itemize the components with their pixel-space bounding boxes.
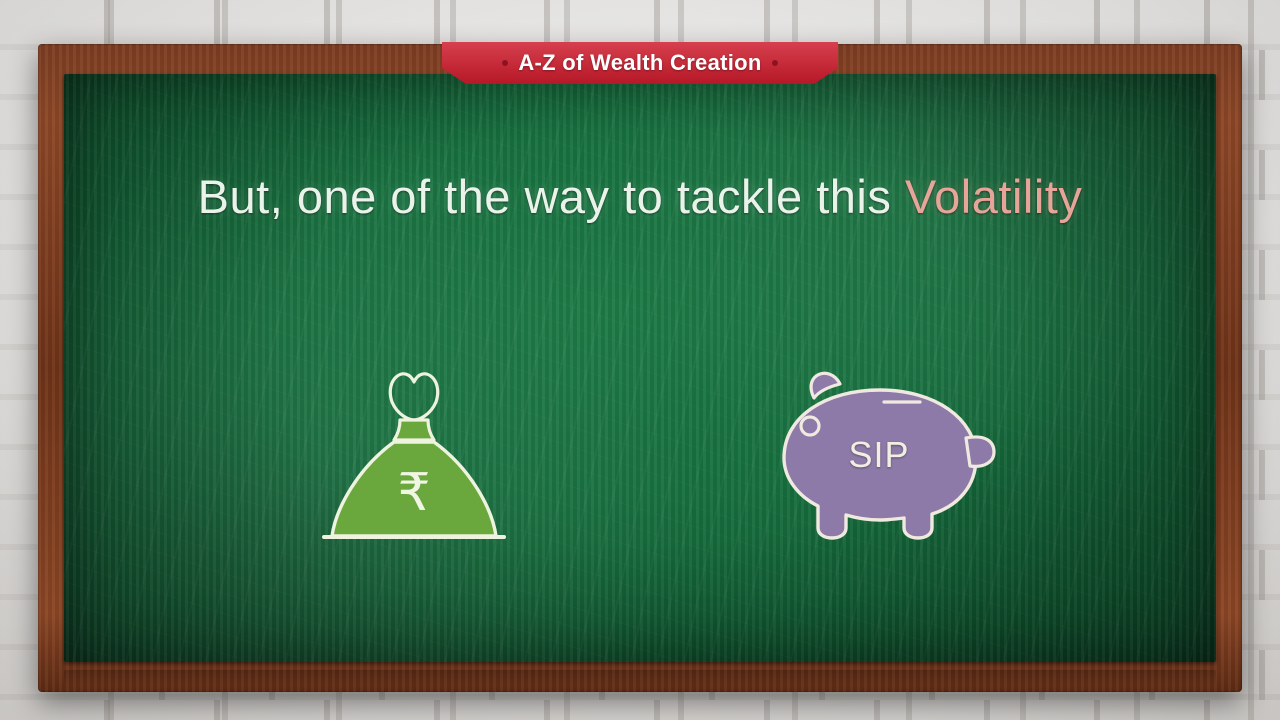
ribbon-right-dot-icon	[772, 60, 778, 66]
slide-canvas: But, one of the way to tackle this Volat…	[0, 0, 1280, 720]
board-bottom-rail	[64, 670, 1216, 684]
page-title: But, one of the way to tackle this Volat…	[64, 169, 1216, 224]
piggy-bank-illustration: SIP	[744, 346, 1014, 556]
title-ribbon: A-Z of Wealth Creation	[442, 42, 838, 84]
blackboard-surface: But, one of the way to tackle this Volat…	[64, 74, 1216, 662]
headline-main: But, one of the way to tackle this	[198, 170, 892, 223]
money-bag-illustration: ₹	[314, 350, 514, 560]
ribbon-left-dot-icon	[502, 60, 508, 66]
ribbon-content: A-Z of Wealth Creation	[442, 42, 838, 84]
piggy-bank-icon	[744, 346, 1014, 556]
rupee-symbol: ₹	[397, 463, 430, 523]
blackboard-frame: But, one of the way to tackle this Volat…	[38, 44, 1242, 692]
ribbon-title: A-Z of Wealth Creation	[518, 50, 761, 76]
money-bag-icon: ₹	[314, 350, 514, 560]
headline-accent: Volatility	[905, 170, 1082, 223]
